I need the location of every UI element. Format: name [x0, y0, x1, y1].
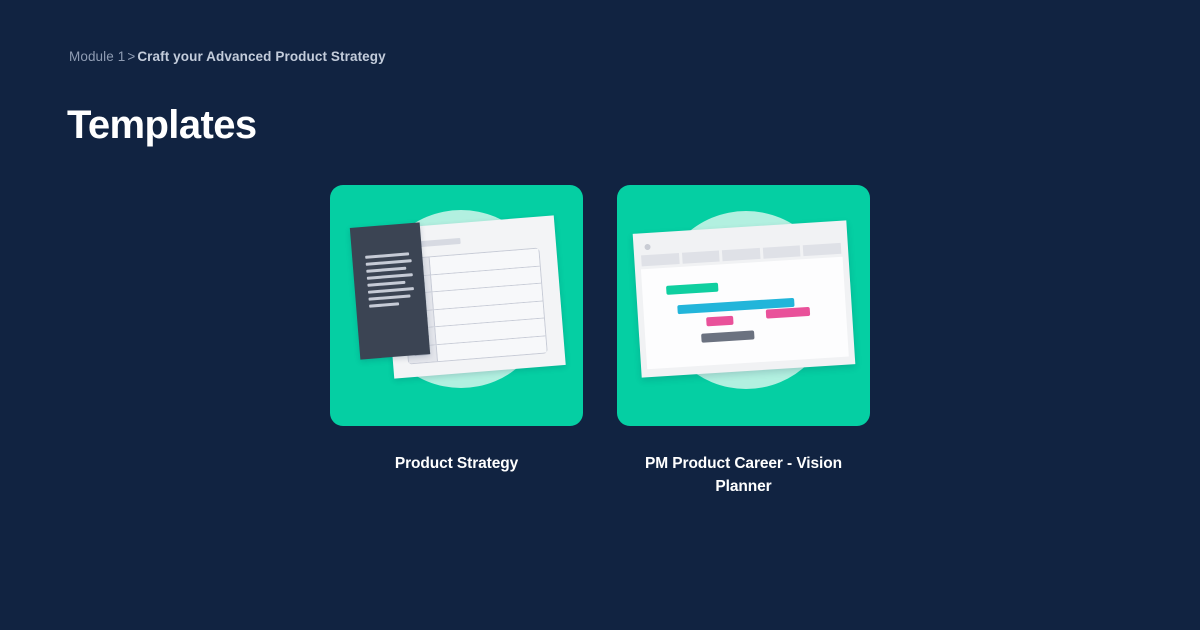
text-line	[366, 267, 406, 273]
timeline-bar	[766, 307, 810, 319]
text-line	[368, 287, 414, 294]
timeline-column-header	[682, 250, 720, 263]
page-title: Templates	[67, 101, 256, 149]
timeline-column-header	[803, 243, 841, 256]
text-line	[365, 252, 409, 259]
template-card-label: PM Product Career - Vision Planner	[639, 452, 849, 498]
breadcrumb-module[interactable]: Module 1	[69, 49, 125, 64]
template-card-product-strategy[interactable]: Product Strategy	[330, 185, 583, 498]
slide-canvas: Module 1>Craft your Advanced Product Str…	[0, 0, 1200, 630]
timeline-column-header	[763, 245, 801, 258]
browser-window-icon	[633, 220, 856, 377]
timeline-body	[641, 257, 849, 369]
text-line	[369, 302, 399, 307]
breadcrumb-separator: >	[125, 49, 137, 64]
timeline-bar	[666, 283, 718, 295]
text-line	[366, 259, 412, 266]
strategy-document-thumbnail[interactable]	[330, 185, 583, 426]
breadcrumb-current: Craft your Advanced Product Strategy	[137, 49, 385, 64]
text-line	[367, 281, 405, 287]
timeline-bar	[701, 330, 754, 342]
timeline-column-header	[722, 248, 760, 261]
templates-grid: Product Strategy PM Product Career - Vis…	[330, 185, 870, 498]
window-dot-icon	[644, 244, 650, 250]
document-cover-panel-icon	[350, 222, 430, 359]
template-card-label: Product Strategy	[395, 452, 518, 475]
gantt-timeline-thumbnail[interactable]	[617, 185, 870, 426]
text-line	[367, 273, 413, 280]
breadcrumb: Module 1>Craft your Advanced Product Str…	[69, 47, 386, 67]
document-text-lines	[365, 252, 415, 308]
text-line	[368, 294, 410, 300]
timeline-column-header	[641, 253, 679, 266]
template-card-pm-product-career-vision-planner[interactable]: PM Product Career - Vision Planner	[617, 185, 870, 498]
timeline-bar	[706, 316, 734, 327]
